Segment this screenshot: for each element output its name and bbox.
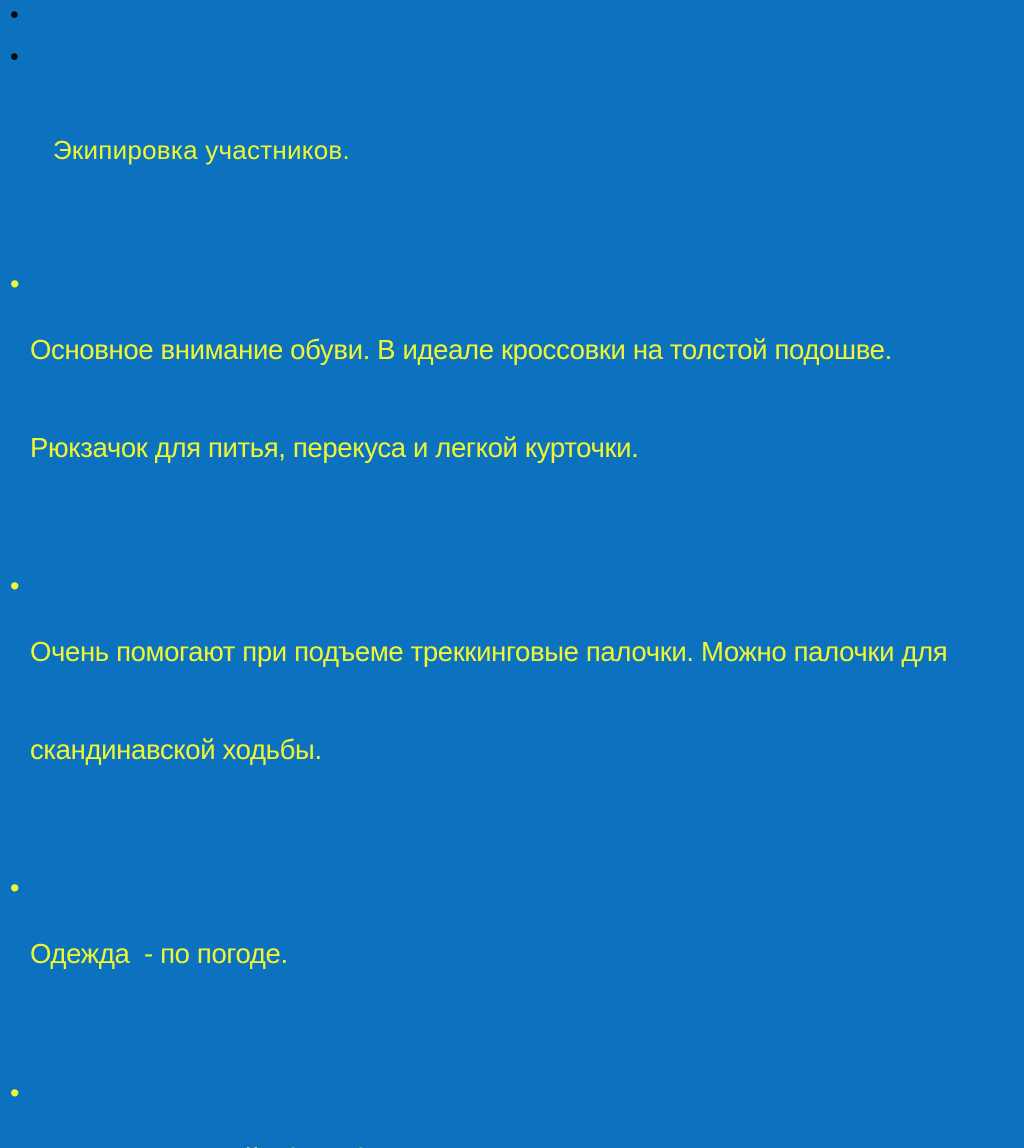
list-item-empty[interactable]: • — [0, 0, 1024, 34]
list-item-text-line-2: Рюкзачок для питья, перекуса и легкой ку… — [30, 432, 1024, 464]
bullet-icon: • — [10, 269, 22, 301]
list-item-text: В жару – головной убор обязателен. — [30, 1143, 1024, 1148]
bullet-icon: • — [10, 1, 22, 31]
list-item-footwear[interactable]: • Основное внимание обуви. В идеале крос… — [0, 237, 1024, 529]
list-item-text-line-1: Основное внимание обуви. В идеале кроссо… — [30, 334, 1024, 366]
list-item-equipment-heading[interactable]: • Экипировка участников. — [0, 43, 1024, 227]
list-item-clothing[interactable]: • Одежда - по погоде. — [0, 841, 1024, 1036]
list-item-text: Экипировка участников. — [38, 135, 1024, 166]
list-item-text-line-2: скандинавской ходьбы. — [30, 734, 1024, 766]
bullet-icon: • — [10, 1078, 22, 1110]
bullet-icon: • — [10, 571, 22, 603]
list-item-text-line-1: Очень помогают при подъеме треккинговые … — [30, 636, 1024, 668]
list-item-headwear[interactable]: • В жару – головной убор обязателен. — [0, 1046, 1024, 1148]
list-item-text: Одежда - по погоде. — [30, 938, 1024, 970]
bullet-icon: • — [10, 43, 22, 73]
bullet-list: • • Экипировка участников. • Основное вн… — [0, 0, 1024, 1148]
slide-canvas: • • Экипировка участников. • Основное вн… — [0, 0, 1024, 574]
list-item-trekking-poles[interactable]: • Очень помогают при подъеме треккинговы… — [0, 539, 1024, 831]
bullet-icon: • — [10, 873, 22, 905]
